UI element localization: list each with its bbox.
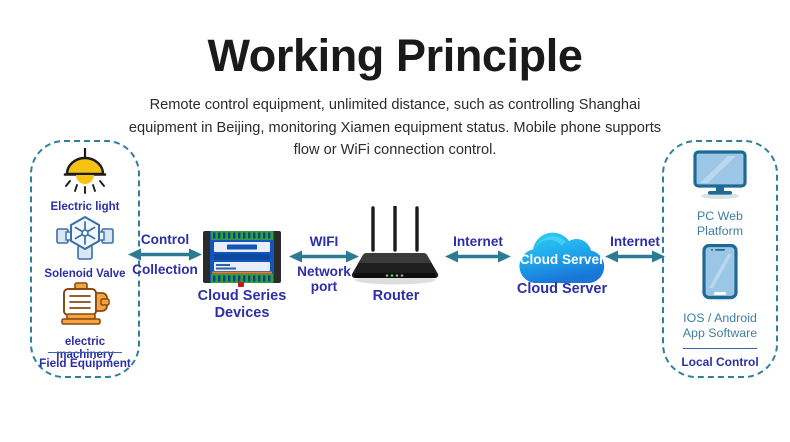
- smartphone-icon: [662, 244, 778, 307]
- connector-internet-right: Internet: [604, 234, 666, 264]
- connector-top-label: Internet: [444, 234, 512, 249]
- solenoid-valve-icon: [30, 213, 140, 266]
- left-panel-item-electric-light: Electric light: [30, 148, 140, 214]
- bidirectional-arrow-icon: [445, 250, 511, 263]
- connector-bottom-label: Collection: [127, 262, 203, 277]
- connector-internet-left: Internet: [444, 234, 512, 264]
- bidirectional-arrow-icon: [128, 248, 202, 261]
- pendant-lamp-icon: [30, 148, 140, 199]
- wifi-router-icon: [345, 206, 445, 291]
- cloud-series-devices-caption: Cloud Series Devices: [190, 288, 294, 321]
- left-panel-item-solenoid-valve: Solenoid Valve: [30, 213, 140, 281]
- page-subtitle: Remote control equipment, unlimited dist…: [125, 94, 665, 162]
- bidirectional-arrow-icon: [605, 250, 665, 263]
- connector-top-label: Internet: [604, 234, 666, 249]
- working-principle-diagram: Working Principle Remote control equipme…: [0, 0, 790, 442]
- left-panel-item-electric-machinery: electric machinery: [30, 281, 140, 362]
- router-caption: Router: [350, 288, 442, 305]
- page-title: Working Principle: [0, 32, 790, 79]
- right-panel-item-app-software: IOS / Android App Software: [662, 244, 778, 340]
- right-panel-item-label: IOS / Android App Software: [662, 311, 778, 340]
- relay-board-icon: [203, 229, 281, 292]
- connector-control-collection: Control Collection: [127, 232, 203, 277]
- right-panel-item-label: PC Web Platform: [662, 209, 778, 238]
- left-panel-divider: [48, 352, 122, 353]
- right-panel-item-pc-web-platform: PC Web Platform: [662, 150, 778, 238]
- local-control-footer-label: Local Control: [662, 355, 778, 369]
- right-panel-divider: [683, 348, 757, 349]
- desktop-monitor-icon: [662, 150, 778, 205]
- left-panel-item-label: Electric light: [30, 201, 140, 214]
- cloud-server-caption: Cloud Server: [505, 281, 619, 298]
- connector-top-label: Control: [127, 232, 203, 247]
- left-panel-item-label: Solenoid Valve: [30, 268, 140, 281]
- field-equipment-footer-label: Field Equipment: [30, 356, 140, 370]
- electric-motor-icon: [30, 281, 140, 334]
